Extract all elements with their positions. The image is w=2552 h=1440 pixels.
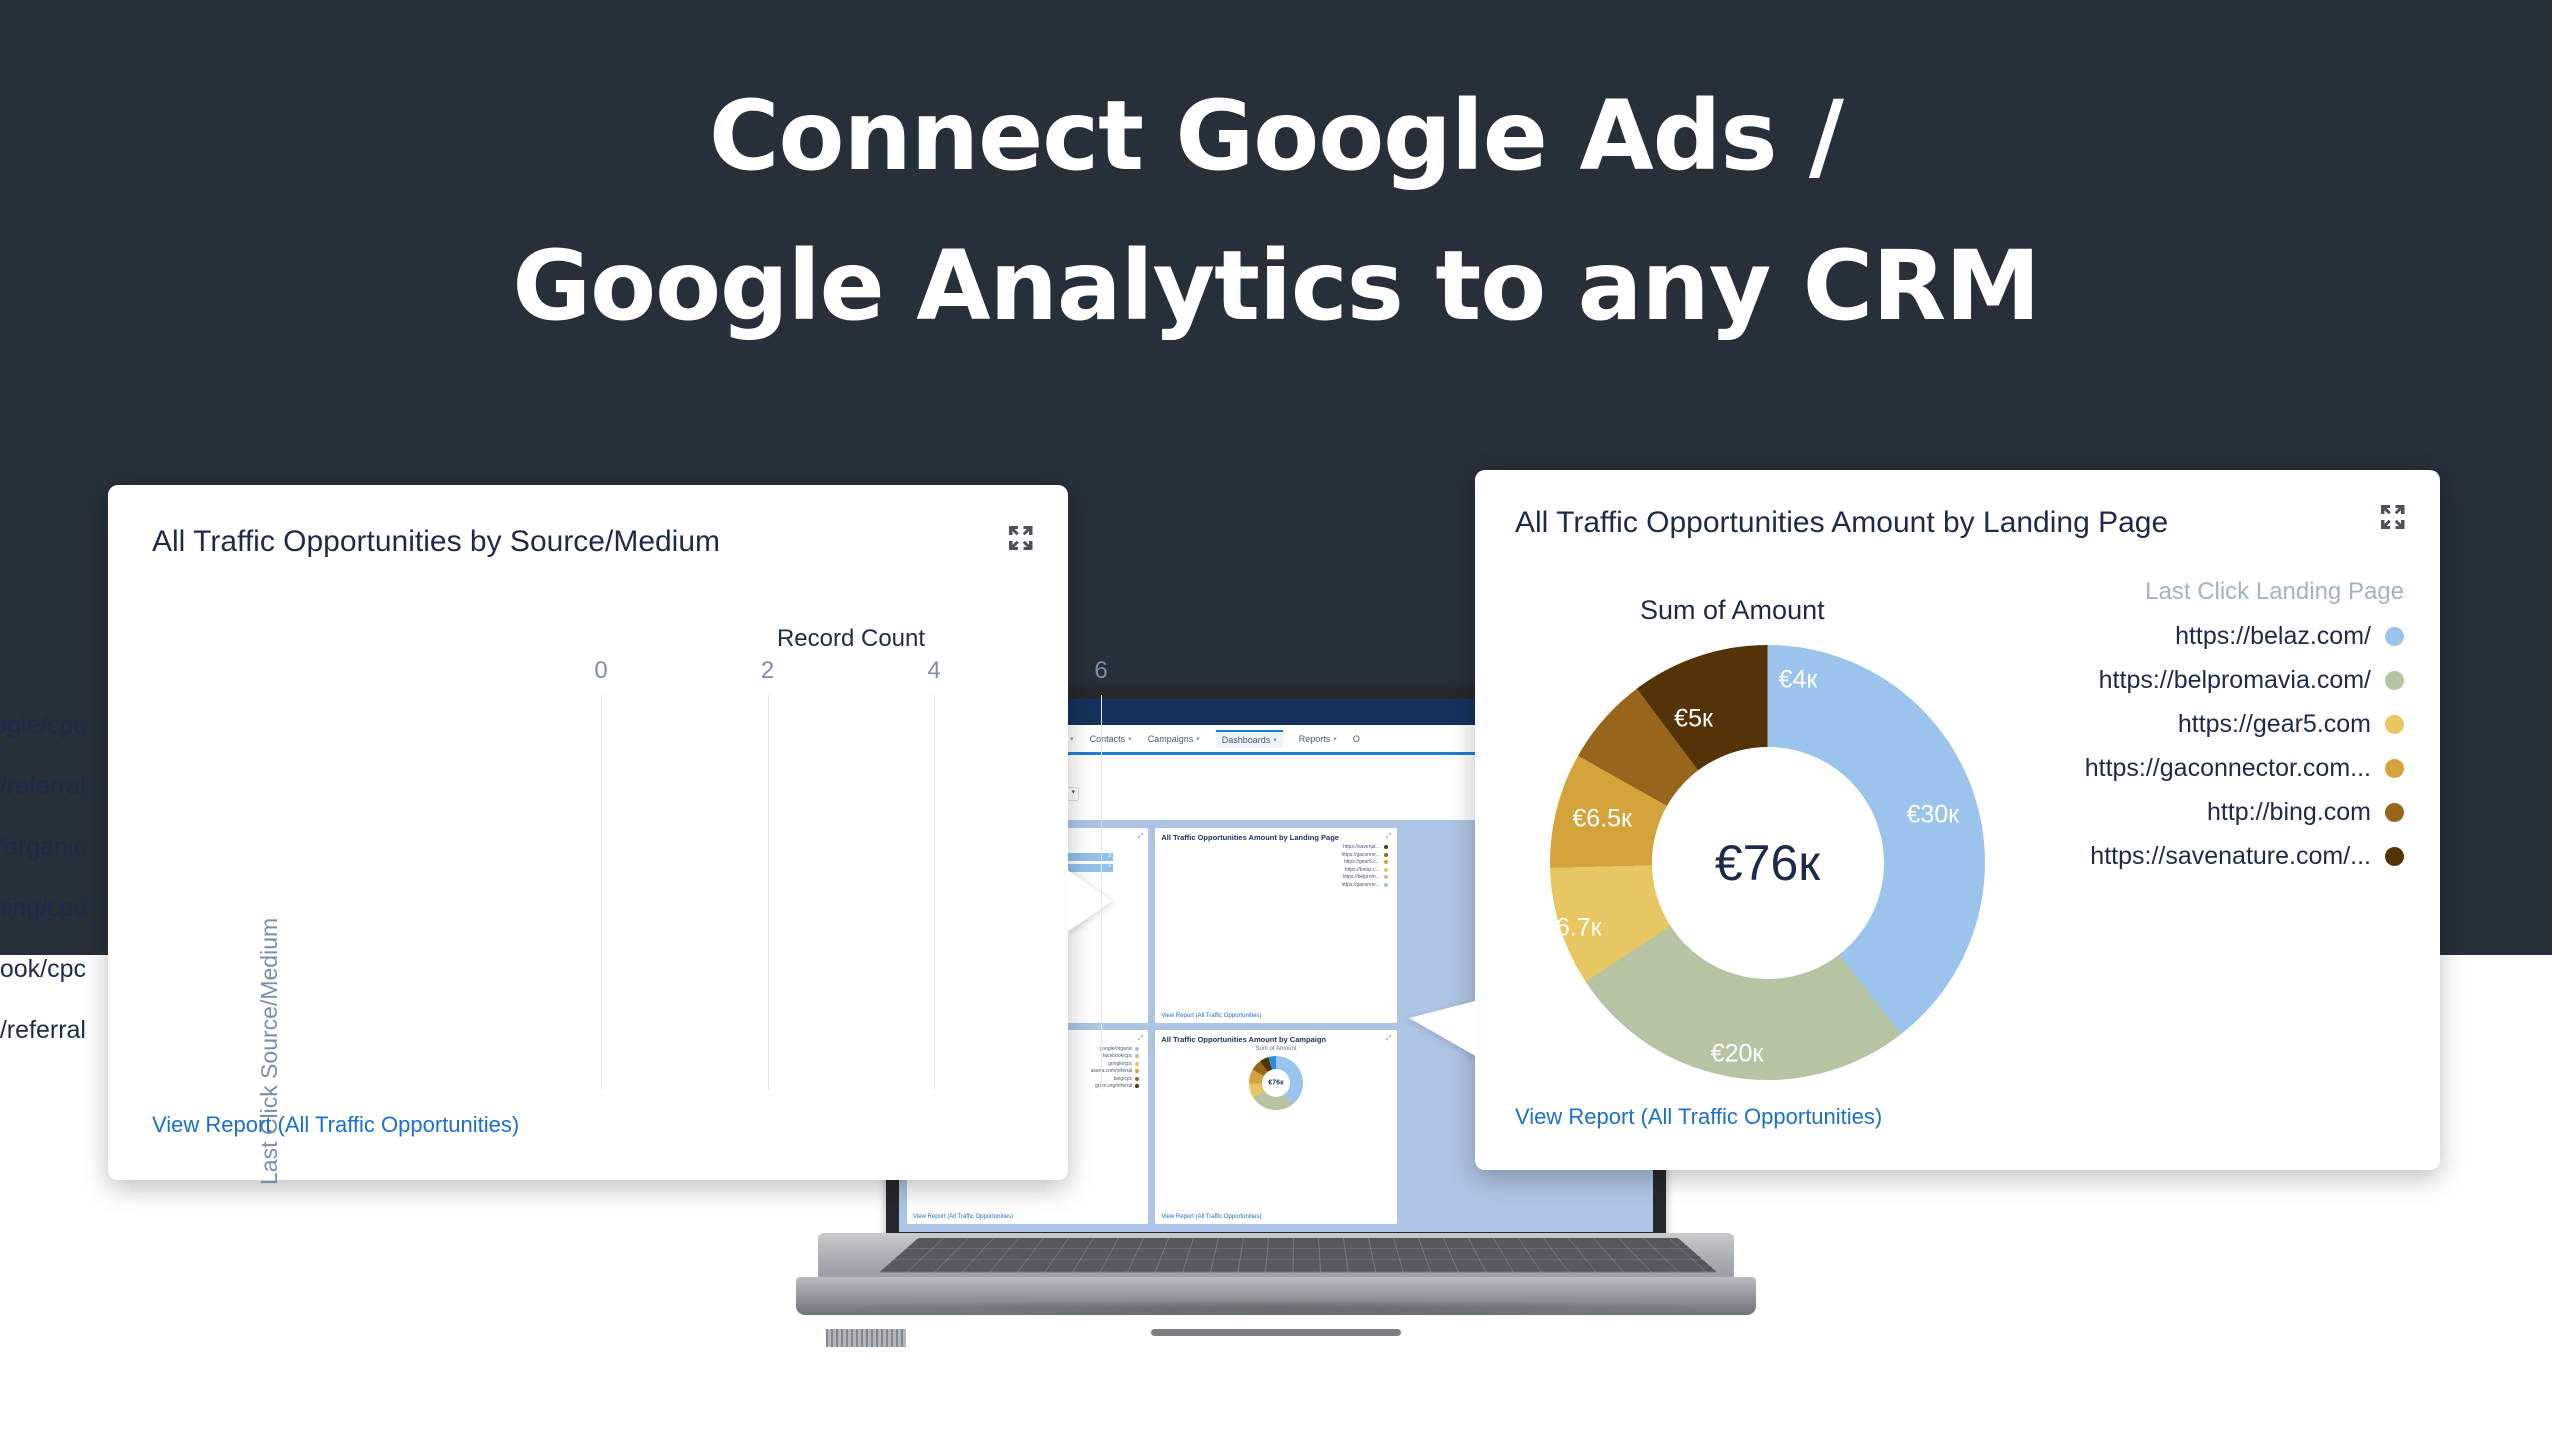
page-title: Connect Google Ads / Google Analytics to…: [0, 88, 2552, 334]
nav-item-more[interactable]: O: [1353, 734, 1360, 744]
nav-item-reports[interactable]: Reports▾: [1299, 734, 1337, 744]
laptop-latch-notch: [1151, 1329, 1401, 1336]
bar-value-label: 2: [578, 771, 592, 800]
chevron-down-icon: ▾: [1196, 735, 1200, 743]
legend-label: https://gaconnector.com...: [2085, 754, 2371, 783]
mini-dashboard-card[interactable]: All Traffic Opportunities Amount by Camp…: [1155, 1030, 1396, 1225]
donut-total-value: €76к: [1715, 834, 1820, 892]
gridline: [934, 695, 935, 1090]
x-tick-label: 2: [761, 657, 774, 685]
gridline: [768, 695, 769, 1090]
nav-item-dashboards[interactable]: Dashboards▾: [1216, 730, 1283, 748]
mini-card-link[interactable]: View Report (All Traffic Opportunities): [1161, 1214, 1261, 1220]
mini-donut-chart: €76к: [1249, 1056, 1303, 1110]
legend-label: http://bing.com: [2207, 798, 2371, 827]
donut-chart: €30к €20к €6.7к €6.5к €5к €4к €76к: [1550, 645, 1985, 1080]
chevron-down-icon: ▾: [1128, 735, 1132, 743]
legend-color-dot: [2385, 803, 2404, 822]
mini-card-metric: Sum of Amount: [1161, 1046, 1390, 1052]
view-report-link[interactable]: View Report (All Traffic Opportunities): [152, 1112, 519, 1138]
legend-title: Last Click Landing Page: [1984, 578, 2404, 606]
gridline: [601, 695, 602, 1090]
laptop-shadow: [826, 1300, 1726, 1316]
bar-category-label: app.asana.com/referral: [0, 772, 86, 801]
bar-category-label: google/cpc: [0, 711, 86, 740]
legend-label: https://belaz.com/: [2175, 622, 2371, 651]
bar-category-label: facebook/cpc: [0, 955, 86, 984]
expand-icon[interactable]: [2380, 504, 2406, 530]
expand-icon[interactable]: ⤢: [1138, 1035, 1144, 1043]
bar-value-label: 5: [578, 710, 592, 739]
legend-label: https://savenature.com/...: [2090, 842, 2371, 871]
mini-legend: https://savenat… https://gaconne… https:…: [1161, 844, 1390, 888]
bar-category-label: web.telegram.org/referral: [0, 1016, 86, 1045]
mini-card-link[interactable]: View Report (All Traffic Opportunities): [913, 1214, 1013, 1220]
expand-icon[interactable]: ⤢: [1386, 833, 1392, 841]
laptop-deck: [818, 1233, 1734, 1281]
sum-of-amount-label: Sum of Amount: [1640, 595, 1825, 626]
legend-item[interactable]: https://gear5.com: [1984, 710, 2404, 739]
slice-value-label: €6.5к: [1572, 805, 1632, 834]
legend-item[interactable]: http://bing.com: [1984, 798, 2404, 827]
expand-icon[interactable]: ⤢: [1138, 833, 1144, 841]
legend-item[interactable]: https://savenature.com/...: [1984, 842, 2404, 871]
gridline: [1101, 695, 1102, 1090]
x-tick-label: 0: [594, 657, 607, 685]
legend-color-dot: [2385, 847, 2404, 866]
bar-value-label: 1: [578, 954, 592, 983]
bar-value-label: 1: [578, 893, 592, 922]
expand-icon[interactable]: ⤢: [1386, 1035, 1392, 1043]
slice-value-label: €5к: [1674, 704, 1713, 733]
bar-chart-plot: 0 2 4 6 google/cpc 5 app.asana.com/refer…: [601, 695, 1101, 1090]
x-axis-title: Record Count: [601, 625, 1101, 653]
headline-line-1: Connect Google Ads /: [709, 80, 1843, 192]
card-title: All Traffic Opportunities Amount by Land…: [1515, 506, 2168, 540]
slice-value-label: €20к: [1711, 1039, 1764, 1068]
card-title: All Traffic Opportunities by Source/Medi…: [152, 525, 720, 559]
mini-card-title: All Traffic Opportunities Amount by Camp…: [1161, 1035, 1390, 1044]
legend-item[interactable]: https://gaconnector.com...: [1984, 754, 2404, 783]
bar-value-label: 1: [578, 1015, 592, 1044]
mini-dashboard-card[interactable]: All Traffic Opportunities Amount by Land…: [1155, 828, 1396, 1023]
legend-label: https://belpromavia.com/: [2099, 666, 2371, 695]
mini-card-title: All Traffic Opportunities Amount by Land…: [1161, 833, 1390, 842]
laptop-keyboard: [879, 1238, 1718, 1272]
card-traffic-amount-by-landing-page[interactable]: All Traffic Opportunities Amount by Land…: [1475, 470, 2440, 1170]
legend-color-dot: [2385, 671, 2404, 690]
legend-item[interactable]: https://belpromavia.com/: [1984, 666, 2404, 695]
y-axis-title: Last Click Source/Medium: [256, 918, 283, 1185]
legend-color-dot: [2385, 627, 2404, 646]
slice-value-label: €4к: [1779, 665, 1818, 694]
view-report-link[interactable]: View Report (All Traffic Opportunities): [1515, 1104, 1882, 1130]
card-tail-pointer: [1409, 1000, 1479, 1058]
mini-donut-total: €76к: [1268, 1079, 1283, 1086]
x-tick-label: 6: [1094, 657, 1107, 685]
donut-center: €76к: [1652, 747, 1884, 979]
laptop-vent: [826, 1329, 906, 1347]
legend-item[interactable]: https://belaz.com/: [1984, 622, 2404, 651]
legend-color-dot: [2385, 715, 2404, 734]
headline-line-2: Google Analytics to any CRM: [0, 238, 2552, 334]
bar-category-label: bing/cpc: [0, 894, 86, 923]
slice-value-label: €6.7к: [1542, 913, 1602, 942]
expand-icon[interactable]: [1008, 525, 1034, 551]
chevron-down-icon: ▾: [1333, 735, 1337, 743]
nav-item-campaigns[interactable]: Campaigns▾: [1148, 734, 1200, 744]
bar-category-label: google/organic: [0, 833, 86, 862]
legend-color-dot: [2385, 759, 2404, 778]
bar-value-label: 2: [578, 832, 592, 861]
x-tick-label: 4: [927, 657, 940, 685]
slice-value-label: €30к: [1906, 800, 1959, 829]
chevron-down-icon: ▾: [1273, 736, 1277, 744]
card-traffic-by-source-medium[interactable]: All Traffic Opportunities by Source/Medi…: [108, 485, 1068, 1180]
legend-label: https://gear5.com: [2178, 710, 2371, 739]
mini-card-link[interactable]: View Report (All Traffic Opportunities): [1161, 1013, 1261, 1019]
legend: Last Click Landing Page https://belaz.co…: [1984, 578, 2404, 886]
